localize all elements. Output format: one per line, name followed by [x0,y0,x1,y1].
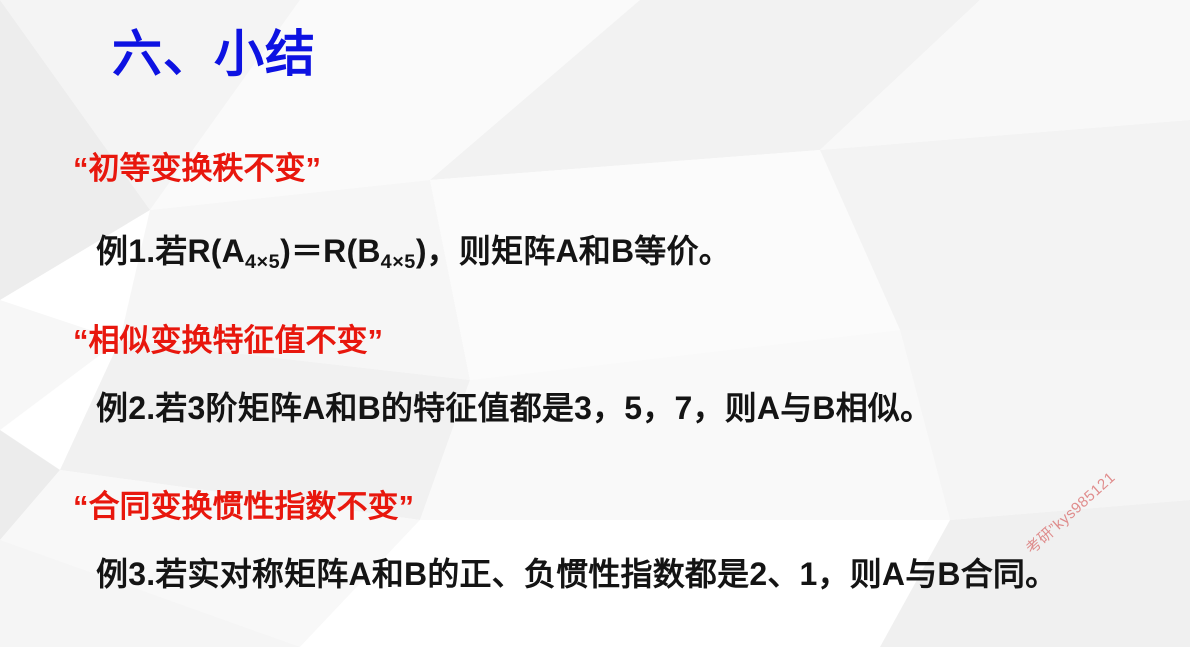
example-1-prefix: 若R(A [155,233,245,269]
example-1-subscript-b: 4×5 [381,251,416,273]
section-heading-1: “初等变换秩不变” [73,143,321,188]
example-2-text: 若3阶矩阵A和B的特征值都是3，5，7，则A与B相似。 [155,390,932,426]
example-1-label: 例1. [96,233,155,269]
example-1-suffix: )，则矩阵A和B等价。 [416,233,731,269]
section-heading-2: “相似变换特征值不变” [73,315,383,360]
slide-canvas: 六、小结 “初等变换秩不变” 例1.若R(A4×5)＝R(B4×5)，则矩阵A和… [0,0,1190,647]
example-line-3: 例3.若实对称矩阵A和B的正、负惯性指数都是2、1，则A与B合同。 [96,549,1057,595]
example-3-text: 若实对称矩阵A和B的正、负惯性指数都是2、1，则A与B合同。 [155,556,1057,592]
example-1-mid: )＝R(B [280,233,381,269]
watermark: 考研”kys985121 [1021,467,1119,559]
example-1-subscript-a: 4×5 [245,251,280,273]
example-2-label: 例2. [96,390,155,426]
example-line-1: 例1.若R(A4×5)＝R(B4×5)，则矩阵A和B等价。 [96,226,731,274]
example-line-2: 例2.若3阶矩阵A和B的特征值都是3，5，7，则A与B相似。 [96,383,932,429]
page-title: 六、小结 [112,27,316,82]
section-heading-3: “合同变换惯性指数不变” [73,481,414,526]
example-3-label: 例3. [96,556,155,592]
